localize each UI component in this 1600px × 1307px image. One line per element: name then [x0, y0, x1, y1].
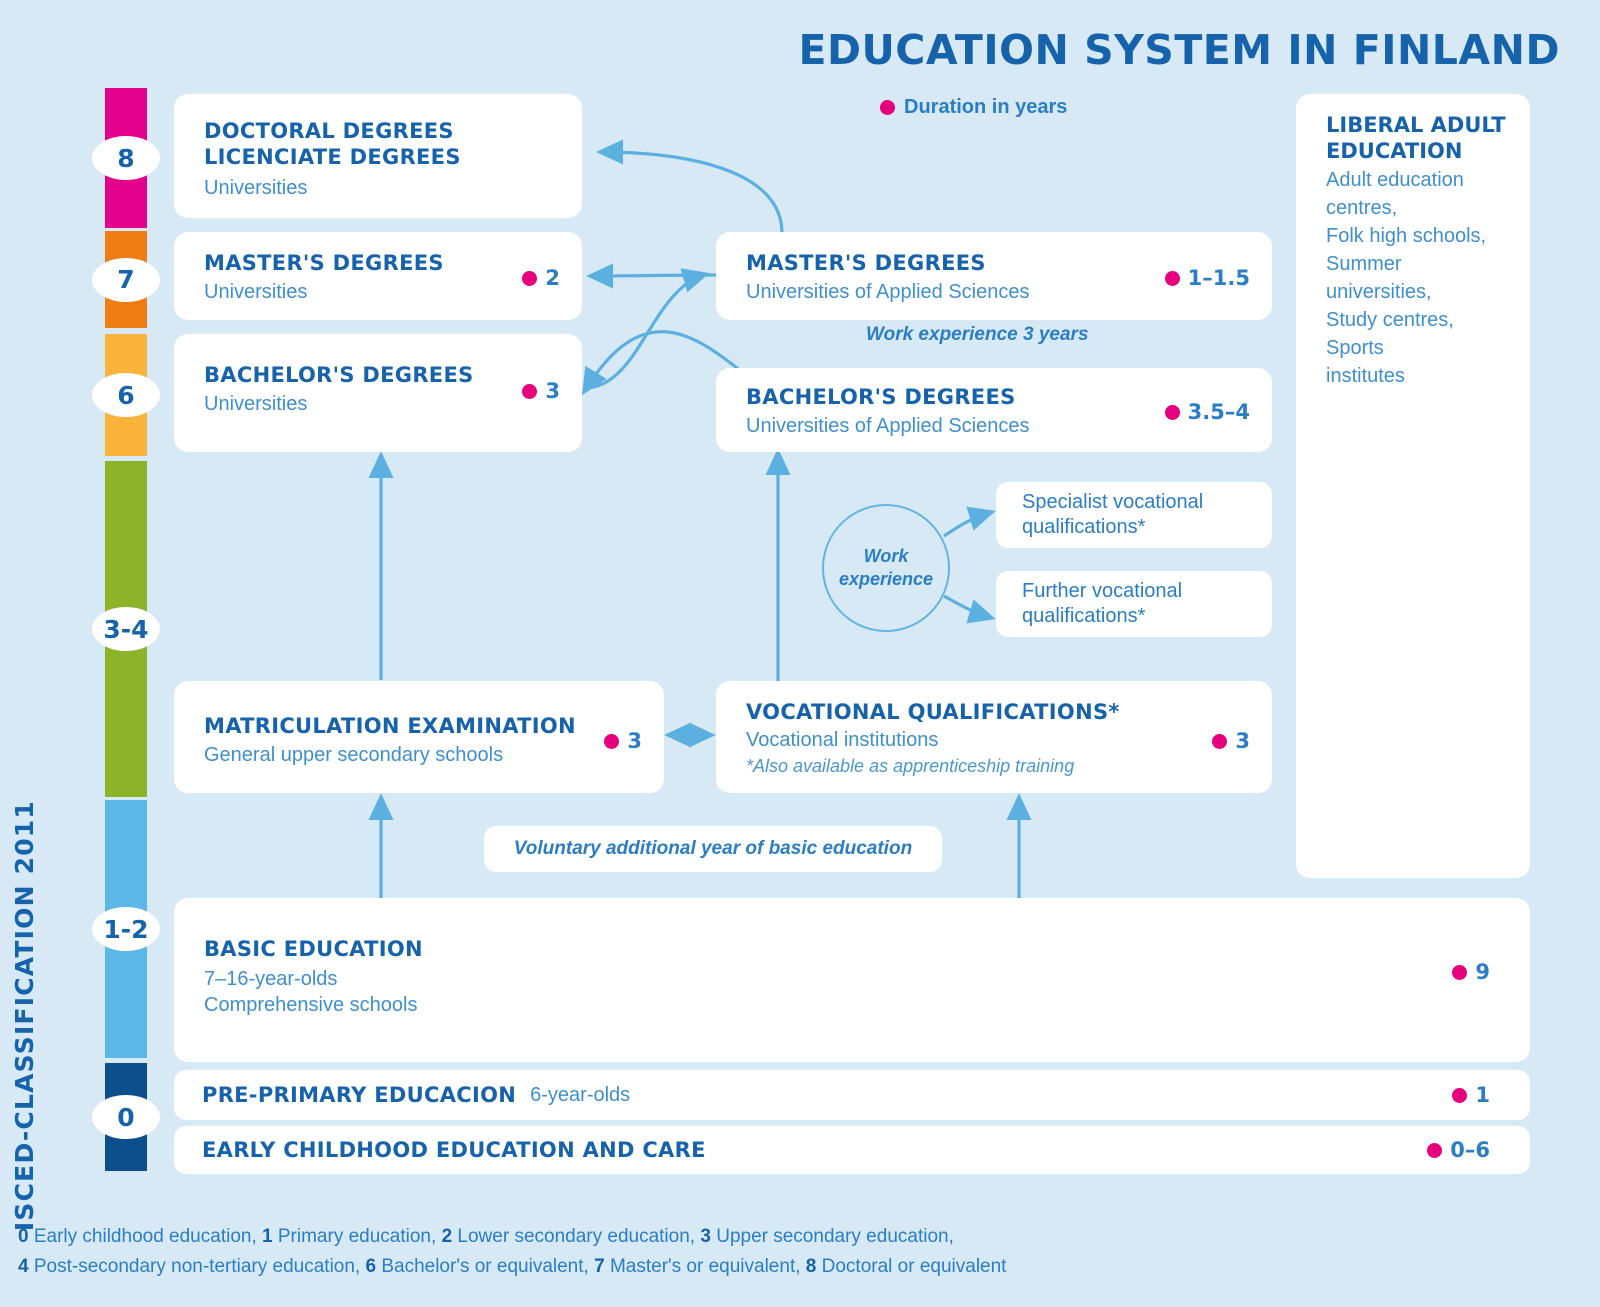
isced-level-chip-1-2: 1-2: [92, 907, 160, 951]
duration-dot-icon: [522, 271, 537, 286]
duration-dot-icon: [1452, 1088, 1467, 1103]
further-voc-line2: qualifications*: [1022, 604, 1182, 629]
duration-dot-icon: [1165, 271, 1180, 286]
duration-dot-icon: [604, 734, 619, 749]
isced-level-chip-8: 8: [92, 136, 160, 180]
pre-primary-title: PRE-PRIMARY EDUCACION: [174, 1083, 516, 1107]
bachelor-uas-subtitle: Universities of Applied Sciences: [746, 413, 1029, 439]
adult-title-line1: LIBERAL ADULT: [1326, 112, 1506, 138]
box-bachelors-universities[interactable]: BACHELOR'S DEGREES Universities 3: [174, 334, 582, 452]
bachelor-uni-title: BACHELOR'S DEGREES: [204, 362, 474, 388]
adult-education-title: LIBERAL ADULT EDUCATION: [1326, 112, 1506, 165]
note-work-experience-3-years: Work experience 3 years: [866, 324, 1089, 346]
box-masters-universities[interactable]: MASTER'S DEGREES Universities 2: [174, 232, 582, 320]
masters-uni-title: MASTER'S DEGREES: [204, 250, 444, 276]
further-voc-line1: Further vocational: [1022, 579, 1182, 604]
masters-uas-title: MASTER'S DEGREES: [746, 250, 1029, 276]
matriculation-title: MATRICULATION EXAMINATION: [204, 713, 576, 739]
work-experience-circle: Work experience: [822, 504, 950, 632]
footer-level-number: 7: [594, 1256, 605, 1277]
bachelor-uni-duration-value: 3: [545, 379, 560, 403]
bachelor-uni-duration: 3: [522, 379, 560, 403]
box-doctoral-degrees[interactable]: DOCTORAL DEGREES LICENCIATE DEGREES Univ…: [174, 94, 582, 218]
early-childhood-duration: 0–6: [1427, 1138, 1490, 1162]
isced-band-1-2: 1-2: [105, 800, 147, 1058]
duration-dot-icon: [1452, 965, 1467, 980]
masters-uni-duration: 2: [522, 266, 560, 290]
bachelor-uas-duration-value: 3.5–4: [1188, 400, 1250, 424]
box-vocational-qualifications[interactable]: VOCATIONAL QUALIFICATIONS* Vocational in…: [716, 681, 1272, 793]
doctoral-subtitle: Universities: [204, 175, 461, 201]
duration-dot-icon: [1212, 734, 1227, 749]
duration-dot-icon: [1427, 1143, 1442, 1158]
footer-line-2: 4 Post-secondary non-tertiary education,…: [18, 1252, 1006, 1281]
matriculation-duration: 3: [604, 729, 642, 753]
isced-level-chip-3-4: 3-4: [92, 607, 160, 651]
adult-body-line: universities,: [1326, 278, 1486, 306]
box-specialist-vocational-qualifications[interactable]: Specialist vocational qualifications*: [996, 482, 1272, 548]
isced-band-8: 8: [105, 88, 147, 228]
footer-level-number: 3: [700, 1226, 711, 1247]
bachelor-uni-subtitle: Universities: [204, 391, 474, 417]
box-liberal-adult-education[interactable]: LIBERAL ADULT EDUCATION Adult educationc…: [1296, 94, 1530, 878]
early-childhood-duration-value: 0–6: [1450, 1138, 1490, 1162]
isced-level-chip-0: 0: [92, 1095, 160, 1139]
footer-level-text: Primary education,: [273, 1226, 442, 1247]
duration-dot-icon: [1165, 405, 1180, 420]
voluntary-year-text: Voluntary additional year of basic educa…: [514, 838, 912, 860]
masters-uas-duration: 1–1.5: [1165, 266, 1250, 290]
bachelor-uas-duration: 3.5–4: [1165, 400, 1250, 424]
footer-level-number: 4: [18, 1256, 29, 1277]
early-childhood-title: EARLY CHILDHOOD EDUCATION AND CARE: [174, 1138, 706, 1162]
pre-primary-duration-value: 1: [1475, 1083, 1490, 1107]
adult-body-line: Folk high schools,: [1326, 222, 1486, 250]
vocational-title: VOCATIONAL QUALIFICATIONS*: [746, 699, 1120, 725]
work-experience-line2: experience: [839, 568, 933, 591]
footer-level-number: 8: [806, 1256, 817, 1277]
vocational-note: *Also available as apprenticeship traini…: [746, 755, 1120, 778]
work-experience-circle-text: Work experience: [839, 545, 933, 592]
box-matriculation-examination[interactable]: MATRICULATION EXAMINATION General upper …: [174, 681, 664, 793]
specialist-voc-line2: qualifications*: [1022, 515, 1203, 540]
footer-line-1: 0 Early childhood education, 1 Primary e…: [18, 1222, 1006, 1251]
adult-body-line: Study centres,: [1326, 306, 1486, 334]
footer-level-text: Early childhood education,: [29, 1226, 262, 1247]
duration-dot-icon: [880, 100, 895, 115]
page-title: EDUCATION SYSTEM IN FINLAND: [798, 26, 1560, 74]
basic-education-sub2: Comprehensive schools: [204, 992, 423, 1018]
isced-level-chip-6: 6: [92, 373, 160, 417]
adult-body-line: centres,: [1326, 194, 1486, 222]
footer-level-text: Lower secondary education,: [452, 1226, 700, 1247]
adult-body-line: Adult education: [1326, 166, 1486, 194]
footer-level-text: Doctoral or equivalent: [816, 1256, 1006, 1277]
doctoral-title-line2: LICENCIATE DEGREES: [204, 144, 461, 170]
basic-education-sub1: 7–16-year-olds: [204, 966, 423, 992]
vocational-duration: 3: [1212, 729, 1250, 753]
isced-footer-legend: 0 Early childhood education, 1 Primary e…: [18, 1222, 1006, 1281]
footer-level-number: 0: [18, 1226, 29, 1247]
matriculation-subtitle: General upper secondary schools: [204, 742, 576, 768]
pre-primary-subtitle: 6-year-olds: [516, 1084, 630, 1107]
legend-duration-label: Duration in years: [904, 96, 1067, 119]
vocational-subtitle: Vocational institutions: [746, 727, 1120, 753]
box-pre-primary-education[interactable]: PRE-PRIMARY EDUCACION 6-year-olds 1: [174, 1070, 1530, 1120]
isced-band-3-4: 3-4: [105, 461, 147, 797]
footer-level-text: Post-secondary non-tertiary education,: [29, 1256, 366, 1277]
isced-level-chip-7: 7: [92, 258, 160, 302]
doctoral-title-line1: DOCTORAL DEGREES: [204, 118, 461, 144]
adult-title-line2: EDUCATION: [1326, 138, 1506, 164]
footer-level-text: Master's or equivalent,: [605, 1256, 806, 1277]
basic-education-duration-value: 9: [1475, 960, 1490, 984]
box-masters-uas[interactable]: MASTER'S DEGREES Universities of Applied…: [716, 232, 1272, 320]
infographic-canvas: EDUCATION SYSTEM IN FINLAND Duration in …: [0, 0, 1600, 1307]
isced-band-7: 7: [105, 231, 147, 328]
adult-body-line: Sports: [1326, 334, 1486, 362]
footer-level-number: 1: [262, 1226, 273, 1247]
masters-uni-subtitle: Universities: [204, 279, 444, 305]
work-experience-line1: Work: [839, 545, 933, 568]
basic-education-title: BASIC EDUCATION: [204, 936, 423, 962]
footer-level-number: 6: [365, 1256, 376, 1277]
box-early-childhood-education-and-care[interactable]: EARLY CHILDHOOD EDUCATION AND CARE 0–6: [174, 1126, 1530, 1174]
box-basic-education[interactable]: BASIC EDUCATION 7–16-year-olds Comprehen…: [174, 898, 1530, 1062]
specialist-voc-line1: Specialist vocational: [1022, 490, 1203, 515]
box-bachelors-uas[interactable]: BACHELOR'S DEGREES Universities of Appli…: [716, 368, 1272, 452]
isced-rail-label: ISCED-CLASSIFICATION 2011: [10, 800, 39, 1231]
footer-level-text: Upper secondary education,: [711, 1226, 954, 1247]
masters-uas-duration-value: 1–1.5: [1188, 266, 1250, 290]
adult-education-body: Adult educationcentres,Folk high schools…: [1326, 166, 1486, 390]
basic-education-duration: 9: [1452, 960, 1490, 984]
vocational-duration-value: 3: [1235, 729, 1250, 753]
box-voluntary-additional-year: Voluntary additional year of basic educa…: [484, 826, 942, 872]
bachelor-uas-title: BACHELOR'S DEGREES: [746, 384, 1029, 410]
further-voc-text: Further vocational qualifications*: [996, 579, 1182, 629]
pre-primary-duration: 1: [1452, 1083, 1490, 1107]
masters-uas-subtitle: Universities of Applied Sciences: [746, 279, 1029, 305]
box-further-vocational-qualifications[interactable]: Further vocational qualifications*: [996, 571, 1272, 637]
legend-duration-in-years: Duration in years: [880, 96, 1067, 119]
matriculation-duration-value: 3: [627, 729, 642, 753]
duration-dot-icon: [522, 384, 537, 399]
footer-level-number: 2: [442, 1226, 453, 1247]
isced-band-6: 6: [105, 334, 147, 456]
footer-level-text: Bachelor's or equivalent,: [376, 1256, 594, 1277]
specialist-voc-text: Specialist vocational qualifications*: [996, 490, 1203, 540]
masters-uni-duration-value: 2: [545, 266, 560, 290]
adult-body-line: Summer: [1326, 250, 1486, 278]
isced-band-0: 0: [105, 1063, 147, 1171]
adult-body-line: institutes: [1326, 362, 1486, 390]
